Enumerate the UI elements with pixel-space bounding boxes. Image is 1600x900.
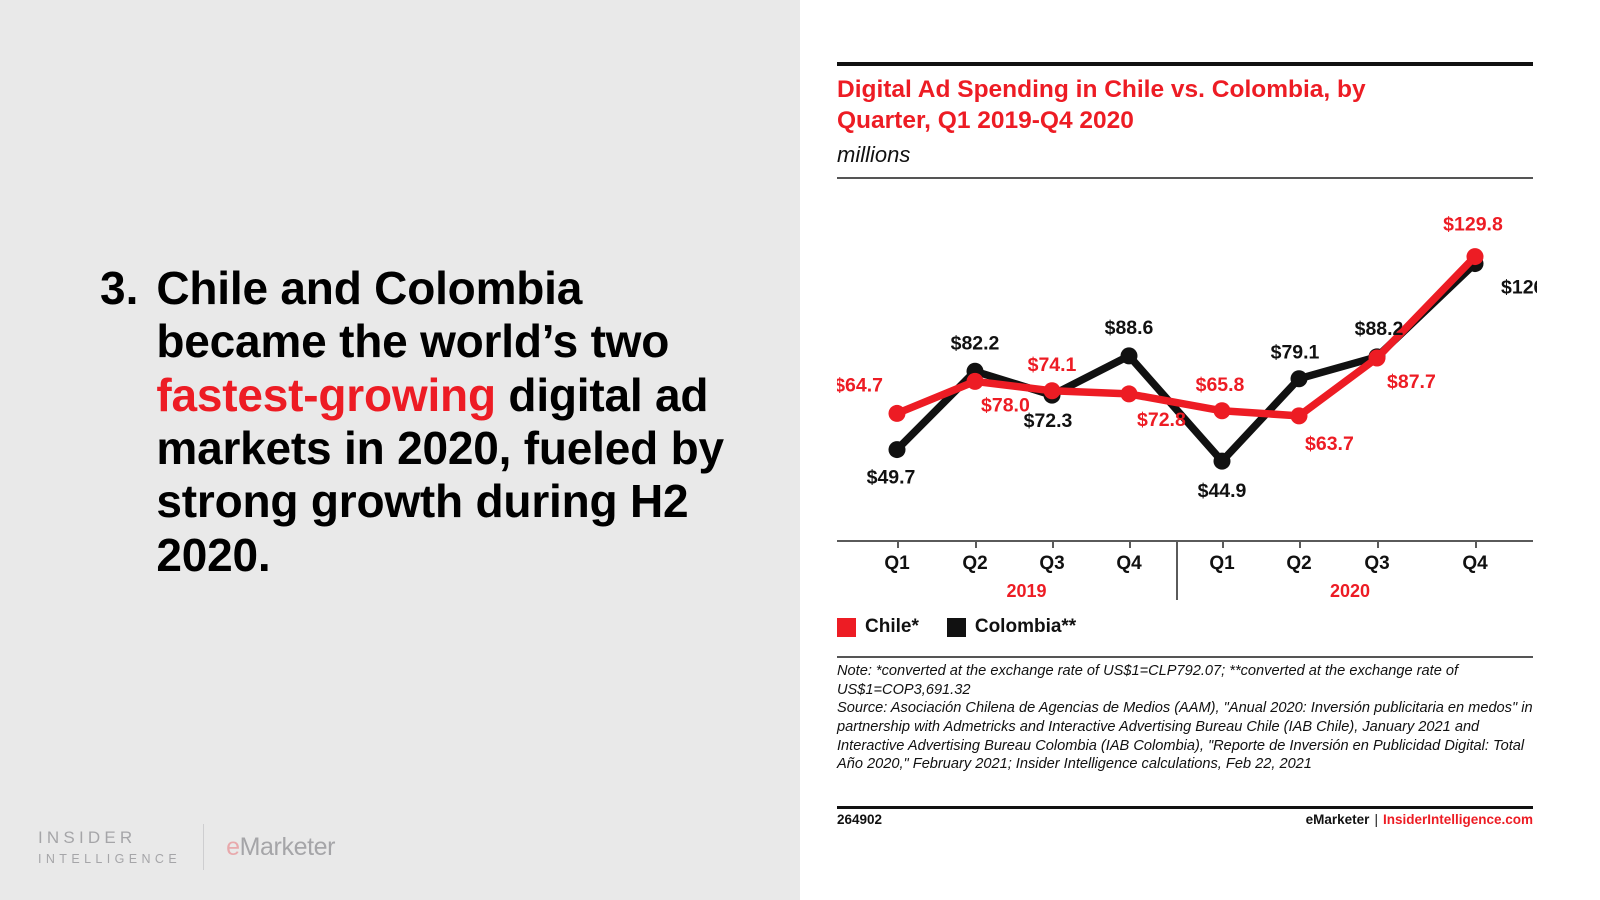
insider-logo-top: INSIDER bbox=[38, 828, 181, 848]
x-axis-label-4: Q1 bbox=[1209, 553, 1234, 575]
data-label: $88.6 bbox=[1105, 317, 1154, 339]
data-point[interactable] bbox=[889, 405, 906, 422]
legend-item-colombia[interactable]: Colombia** bbox=[947, 616, 1076, 638]
left-panel: 3. Chile and Colombia became the world’s… bbox=[0, 0, 800, 900]
brand-logo: INSIDER INTELLIGENCE eMarketer bbox=[38, 824, 335, 870]
legend-item-chile[interactable]: Chile* bbox=[837, 616, 919, 638]
chart-title: Digital Ad Spending in Chile vs. Colombi… bbox=[837, 74, 1437, 137]
data-point[interactable] bbox=[1291, 407, 1308, 424]
x-axis-tick bbox=[1222, 540, 1224, 548]
data-label: $82.2 bbox=[951, 332, 1000, 354]
legend-label: Chile* bbox=[865, 616, 919, 638]
subtitle-rule bbox=[837, 177, 1533, 179]
x-axis-tick bbox=[1475, 540, 1477, 548]
data-point[interactable] bbox=[1121, 347, 1138, 364]
callout-text: Chile and Colombia became the world’s tw… bbox=[156, 262, 740, 582]
x-axis-line bbox=[837, 540, 1533, 542]
chart-id: 264902 bbox=[837, 812, 882, 827]
x-axis-label-6: Q3 bbox=[1364, 553, 1389, 575]
insider-logo-bottom: INTELLIGENCE bbox=[38, 852, 181, 866]
data-label: $74.1 bbox=[1028, 354, 1077, 376]
callout-block: 3. Chile and Colombia became the world’s… bbox=[100, 262, 740, 582]
data-label: $79.1 bbox=[1271, 342, 1320, 364]
data-label: $88.2 bbox=[1355, 318, 1404, 340]
data-point[interactable] bbox=[1291, 370, 1308, 387]
year-label-2020: 2020 bbox=[1330, 581, 1370, 602]
x-axis-label-7: Q4 bbox=[1462, 553, 1487, 575]
data-label: $49.7 bbox=[867, 467, 916, 489]
chart-plot-area: $64.7$78.0$74.1$72.8$65.8$63.7$87.7$129.… bbox=[837, 190, 1537, 545]
title-top-rule bbox=[837, 62, 1533, 66]
insider-intelligence-logo: INSIDER INTELLIGENCE bbox=[38, 828, 181, 866]
chart-subtitle: millions bbox=[837, 142, 910, 168]
x-axis-label-2: Q3 bbox=[1039, 553, 1064, 575]
footer-site-link[interactable]: InsiderIntelligence.com bbox=[1383, 812, 1533, 827]
emarketer-logo: eMarketer bbox=[226, 833, 335, 862]
data-point[interactable] bbox=[1214, 453, 1231, 470]
footer-brand: eMarketer|InsiderIntelligence.com bbox=[1306, 812, 1533, 827]
legend-swatch-icon bbox=[947, 618, 966, 637]
data-label: $87.7 bbox=[1387, 371, 1436, 393]
x-axis-tick bbox=[1052, 540, 1054, 548]
x-axis-tick bbox=[975, 540, 977, 548]
data-point[interactable] bbox=[1121, 385, 1138, 402]
data-point[interactable] bbox=[1467, 248, 1484, 265]
chart-footer: 264902 eMarketer|InsiderIntelligence.com bbox=[837, 812, 1533, 827]
x-axis-label-0: Q1 bbox=[884, 553, 909, 575]
x-axis-tick bbox=[1299, 540, 1301, 548]
series-line-colombia bbox=[897, 264, 1475, 462]
data-label: $126.9 bbox=[1501, 277, 1537, 299]
chart-legend: Chile*Colombia** bbox=[837, 616, 1104, 638]
legend-swatch-icon bbox=[837, 618, 856, 637]
line-chart-svg: $64.7$78.0$74.1$72.8$65.8$63.7$87.7$129.… bbox=[837, 190, 1537, 545]
year-group-divider bbox=[1176, 540, 1178, 600]
data-label: $65.8 bbox=[1196, 374, 1245, 396]
notes-top-rule bbox=[837, 656, 1533, 658]
footer-brand-name: eMarketer bbox=[1306, 812, 1370, 827]
chart-x-axis: Q1Q2Q3Q4Q1Q2Q3Q420192020 bbox=[837, 540, 1537, 610]
footer-separator: | bbox=[1374, 812, 1378, 827]
source-text: Source: Asociación Chilena de Agencias d… bbox=[837, 699, 1535, 774]
emarketer-logo-e: e bbox=[226, 833, 240, 861]
data-label: $44.9 bbox=[1198, 480, 1247, 502]
x-axis-label-1: Q2 bbox=[962, 553, 987, 575]
data-point[interactable] bbox=[1214, 402, 1231, 419]
footer-rule bbox=[837, 806, 1533, 809]
chart-notes: Note: *converted at the exchange rate of… bbox=[837, 662, 1535, 774]
data-point[interactable] bbox=[889, 441, 906, 458]
data-label: $129.8 bbox=[1443, 214, 1503, 236]
callout-text-pre: Chile and Colombia became the world’s tw… bbox=[156, 262, 669, 367]
callout-number: 3. bbox=[100, 262, 138, 315]
chart-card: Digital Ad Spending in Chile vs. Colombi… bbox=[837, 0, 1537, 900]
data-label: $63.7 bbox=[1305, 433, 1354, 455]
x-axis-label-3: Q4 bbox=[1116, 553, 1141, 575]
x-axis-tick bbox=[1377, 540, 1379, 548]
logo-divider bbox=[203, 824, 204, 870]
emarketer-logo-rest: Marketer bbox=[240, 833, 335, 861]
callout-text-highlight: fastest-growing bbox=[156, 369, 495, 421]
data-point[interactable] bbox=[1044, 382, 1061, 399]
data-point[interactable] bbox=[967, 373, 984, 390]
note-text: Note: *converted at the exchange rate of… bbox=[837, 662, 1535, 699]
x-axis-tick bbox=[897, 540, 899, 548]
data-point[interactable] bbox=[1369, 350, 1386, 367]
data-label: $64.7 bbox=[837, 374, 883, 396]
x-axis-tick bbox=[1129, 540, 1131, 548]
data-label: $72.8 bbox=[1137, 409, 1186, 431]
year-label-2019: 2019 bbox=[1006, 581, 1046, 602]
x-axis-label-5: Q2 bbox=[1286, 553, 1311, 575]
legend-label: Colombia** bbox=[975, 616, 1076, 638]
data-label: $72.3 bbox=[1024, 410, 1073, 432]
